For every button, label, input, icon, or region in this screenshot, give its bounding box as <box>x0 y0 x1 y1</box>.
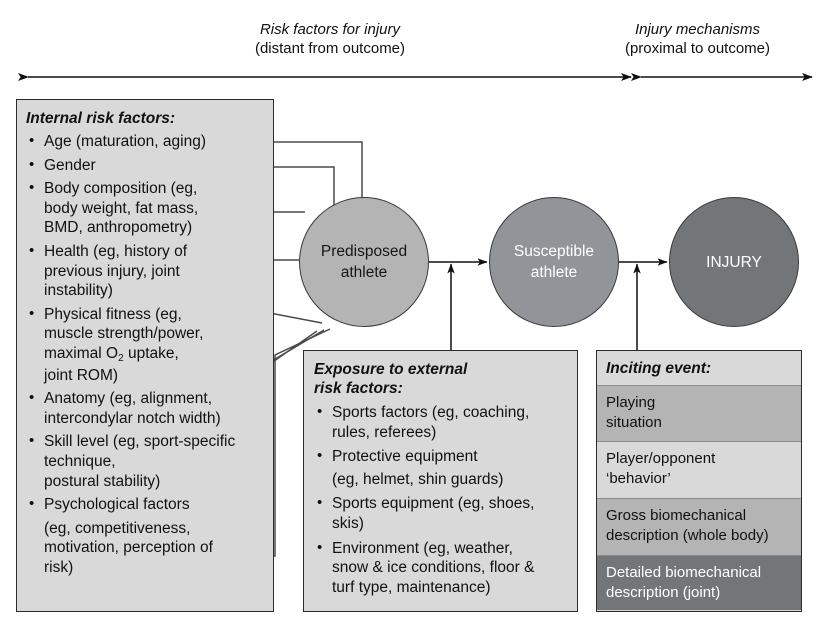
panel-inciting-event: Inciting event: Playing situation Player… <box>596 350 802 612</box>
diagram-canvas: Risk factors for injury (distant from ou… <box>0 0 824 626</box>
list-item-line: previous injury, joint <box>44 262 265 282</box>
row-line: Gross biomechanical <box>606 506 792 526</box>
list-item-line: joint ROM) <box>44 366 265 386</box>
list-item-line: maximal O <box>44 345 118 362</box>
inciting-event-row-playing-situation: Playing situation <box>597 386 801 442</box>
list-item-line: postural stability) <box>44 472 265 492</box>
list-item: Psychological factors (eg, competitivene… <box>26 495 265 577</box>
list-item-line: muscle strength/power, <box>44 324 265 344</box>
node-label-line: Predisposed <box>321 241 407 262</box>
list-item: Sports factors (eg, coaching, rules, ref… <box>314 403 567 442</box>
list-item-line: risk) <box>44 558 265 578</box>
axis-label-risk-factors: Risk factors for injury (distant from ou… <box>180 20 480 58</box>
node-injury: INJURY <box>669 197 799 327</box>
list-item-line: BMD, anthropometry) <box>44 218 265 238</box>
list-item-line: uptake, <box>124 345 179 362</box>
axis-label-risk-factors-title: Risk factors for injury <box>180 20 480 39</box>
list-item-line: Sports equipment (eg, shoes, <box>332 494 567 514</box>
row-line: description (whole body) <box>606 526 792 546</box>
list-item-line: (eg, helmet, shin guards) <box>332 470 567 490</box>
list-item: Environment (eg, weather, snow & ice con… <box>314 539 567 598</box>
list-item: Gender <box>26 156 265 176</box>
subscript-two: 2 <box>118 353 124 364</box>
list-item-line: skis) <box>332 514 567 534</box>
inciting-event-row-detailed-biomechanical: Detailed biomechanical description (join… <box>597 556 801 610</box>
list-item-line: Gender <box>44 156 265 176</box>
list-item-line: technique, <box>44 452 265 472</box>
exposure-risk-factors-list: Sports factors (eg, coaching, rules, ref… <box>314 403 567 597</box>
list-item-line: intercondylar notch width) <box>44 409 265 429</box>
row-line: Detailed biomechanical <box>606 563 792 583</box>
axis-label-risk-factors-sub: (distant from outcome) <box>180 39 480 58</box>
row-line: ‘behavior’ <box>606 469 792 489</box>
inciting-event-row-gross-biomechanical: Gross biomechanical description (whole b… <box>597 499 801 556</box>
list-item-line: Health (eg, history of <box>44 242 265 262</box>
list-item: Age (maturation, aging) <box>26 132 265 152</box>
node-susceptible-athlete: Susceptible athlete <box>489 197 619 327</box>
list-item-line: Physical fitness (eg, <box>44 305 265 325</box>
list-item-line: Body composition (eg, <box>44 179 265 199</box>
list-item-line: Protective equipment <box>332 447 567 467</box>
list-item-line: turf type, maintenance) <box>332 578 567 598</box>
list-item: Anatomy (eg, alignment, intercondylar no… <box>26 389 265 428</box>
list-item-line: motivation, perception of <box>44 538 265 558</box>
row-line: Player/opponent <box>606 449 792 469</box>
list-item: Body composition (eg, body weight, fat m… <box>26 179 265 238</box>
list-item: Sports equipment (eg, shoes, skis) <box>314 494 567 533</box>
row-line: description (joint) <box>606 583 792 603</box>
list-item: Skill level (eg, sport-specific techniqu… <box>26 432 265 491</box>
list-item-line: body weight, fat mass, <box>44 199 265 219</box>
node-predisposed-athlete: Predisposed athlete <box>299 197 429 327</box>
row-line: Playing <box>606 393 792 413</box>
inciting-event-header: Inciting event: <box>597 351 801 386</box>
axis-label-injury-mechanisms-sub: (proximal to outcome) <box>575 39 820 58</box>
axis-label-injury-mechanisms-title: Injury mechanisms <box>575 20 820 39</box>
list-item-line: Psychological factors <box>44 495 265 515</box>
list-item-line-with-subscript: maximal O2 uptake, <box>44 344 265 366</box>
panel-internal-risk-factors: Internal risk factors: Age (maturation, … <box>16 99 274 612</box>
panel-exposure-title-line1: Exposure to external <box>314 360 567 379</box>
list-item-line: snow & ice conditions, floor & <box>332 558 567 578</box>
list-item-line: Environment (eg, weather, <box>332 539 567 559</box>
list-item-line: Sports factors (eg, coaching, <box>332 403 567 423</box>
list-item-line: Skill level (eg, sport-specific <box>44 432 265 452</box>
internal-risk-factors-list: Age (maturation, aging) Gender Body comp… <box>26 132 265 577</box>
list-item: Protective equipment (eg, helmet, shin g… <box>314 447 567 489</box>
list-item-line: instability) <box>44 281 265 301</box>
list-item-line: rules, referees) <box>332 423 567 443</box>
list-item-line: Age (maturation, aging) <box>44 132 265 152</box>
inciting-event-row-player-opponent-behavior: Player/opponent ‘behavior’ <box>597 442 801 499</box>
list-item-line: (eg, competitiveness, <box>44 519 265 539</box>
list-item: Health (eg, history of previous injury, … <box>26 242 265 301</box>
panel-exposure-external-risk-factors: Exposure to external risk factors: Sport… <box>303 350 578 612</box>
row-line: situation <box>606 413 792 433</box>
list-item: Physical fitness (eg, muscle strength/po… <box>26 305 265 385</box>
node-label-line: INJURY <box>706 252 762 273</box>
node-label-line: Susceptible <box>514 241 594 262</box>
panel-internal-risk-factors-title: Internal risk factors: <box>26 109 265 128</box>
axis-label-injury-mechanisms: Injury mechanisms (proximal to outcome) <box>575 20 820 58</box>
node-label-line: athlete <box>321 262 407 283</box>
panel-exposure-title-line2: risk factors: <box>314 379 567 398</box>
panel-inciting-event-title: Inciting event: <box>606 360 711 377</box>
list-item-line: Anatomy (eg, alignment, <box>44 389 265 409</box>
node-label-line: athlete <box>514 262 594 283</box>
